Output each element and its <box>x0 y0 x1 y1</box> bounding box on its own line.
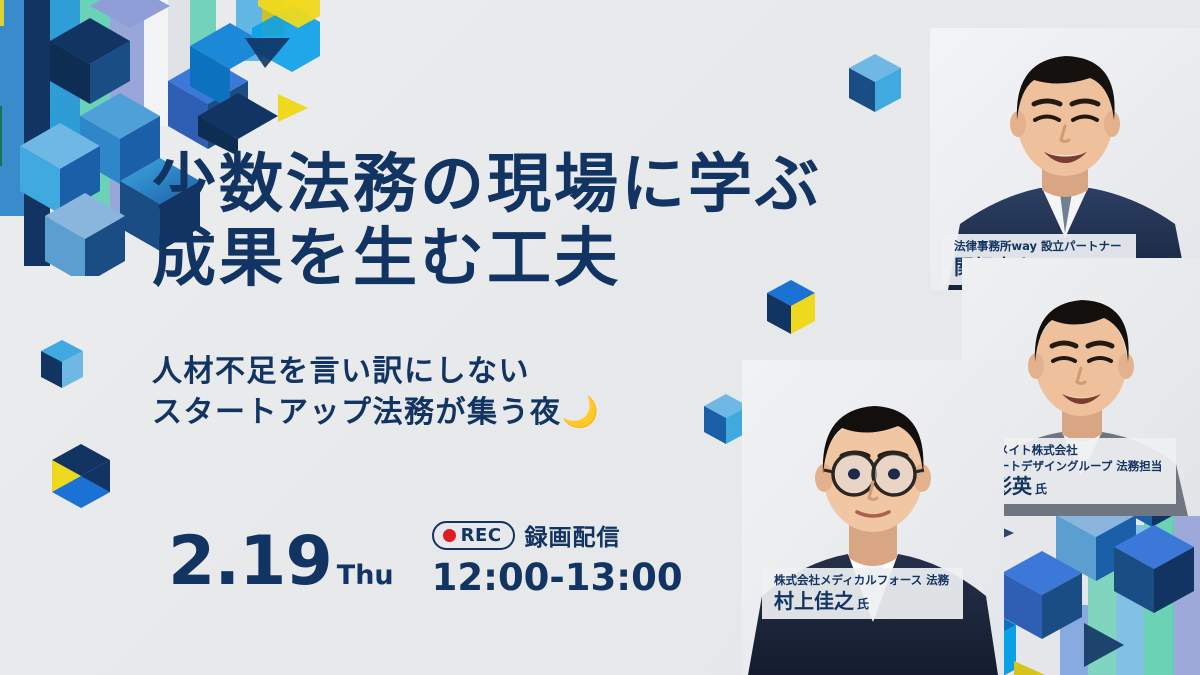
speaker-photo-3 <box>742 360 1004 675</box>
speaker-card-1: 法律事務所way 設立パートナー 関根亮人弁護士 <box>930 28 1200 290</box>
date-group: 2.19 Thu <box>168 528 394 596</box>
speaker-3-name: 村上佳之 <box>774 589 854 613</box>
schedule-block: 2.19 Thu REC 録画配信 12:00-13:00 <box>168 518 683 596</box>
crescent-moon-icon: 🌙 <box>562 395 601 430</box>
recorded-delivery-label: 録画配信 <box>525 518 621 552</box>
speaker-3-name-row: 村上佳之氏 <box>774 589 949 613</box>
webinar-banner: 少数法務の現場に学ぶ 成果を生む工夫 人材不足を言い訳にしない スタートアップ法… <box>0 0 1200 675</box>
rec-badge: REC <box>432 521 515 550</box>
subtitle-line-2: スタートアップ法務が集う夜 <box>152 395 562 430</box>
event-time-range: 12:00-13:00 <box>432 559 683 596</box>
nameplate-3: 株式会社メディカルフォース 法務 村上佳之氏 <box>762 568 963 619</box>
title-block: 少数法務の現場に学ぶ 成果を生む工夫 <box>152 148 822 296</box>
subtitle-line-2-wrapper: スタートアップ法務が集う夜🌙 <box>152 393 600 434</box>
rec-label: REC <box>461 525 502 546</box>
speaker-1-org-line-1: 法律事務所way 設立パートナー <box>954 239 1122 255</box>
time-group: REC 録画配信 12:00-13:00 <box>432 518 683 596</box>
title-line-2: 成果を生む工夫 <box>152 222 822 296</box>
subtitle-block: 人材不足を言い訳にしない スタートアップ法務が集う夜🌙 <box>152 352 600 434</box>
speaker-2-suffix: 氏 <box>1035 482 1047 496</box>
event-date: 2.19 <box>168 528 332 596</box>
event-weekday: Thu <box>337 562 394 589</box>
rec-row: REC 録画配信 <box>432 518 621 552</box>
speaker-card-3: 株式会社メディカルフォース 法務 村上佳之氏 <box>742 360 1004 675</box>
subtitle-line-1: 人材不足を言い訳にしない <box>152 352 600 393</box>
speaker-3-suffix: 氏 <box>857 597 869 611</box>
record-dot-icon <box>443 529 456 542</box>
title-line-1: 少数法務の現場に学ぶ <box>152 148 822 222</box>
speaker-3-org-line-1: 株式会社メディカルフォース 法務 <box>774 573 949 589</box>
